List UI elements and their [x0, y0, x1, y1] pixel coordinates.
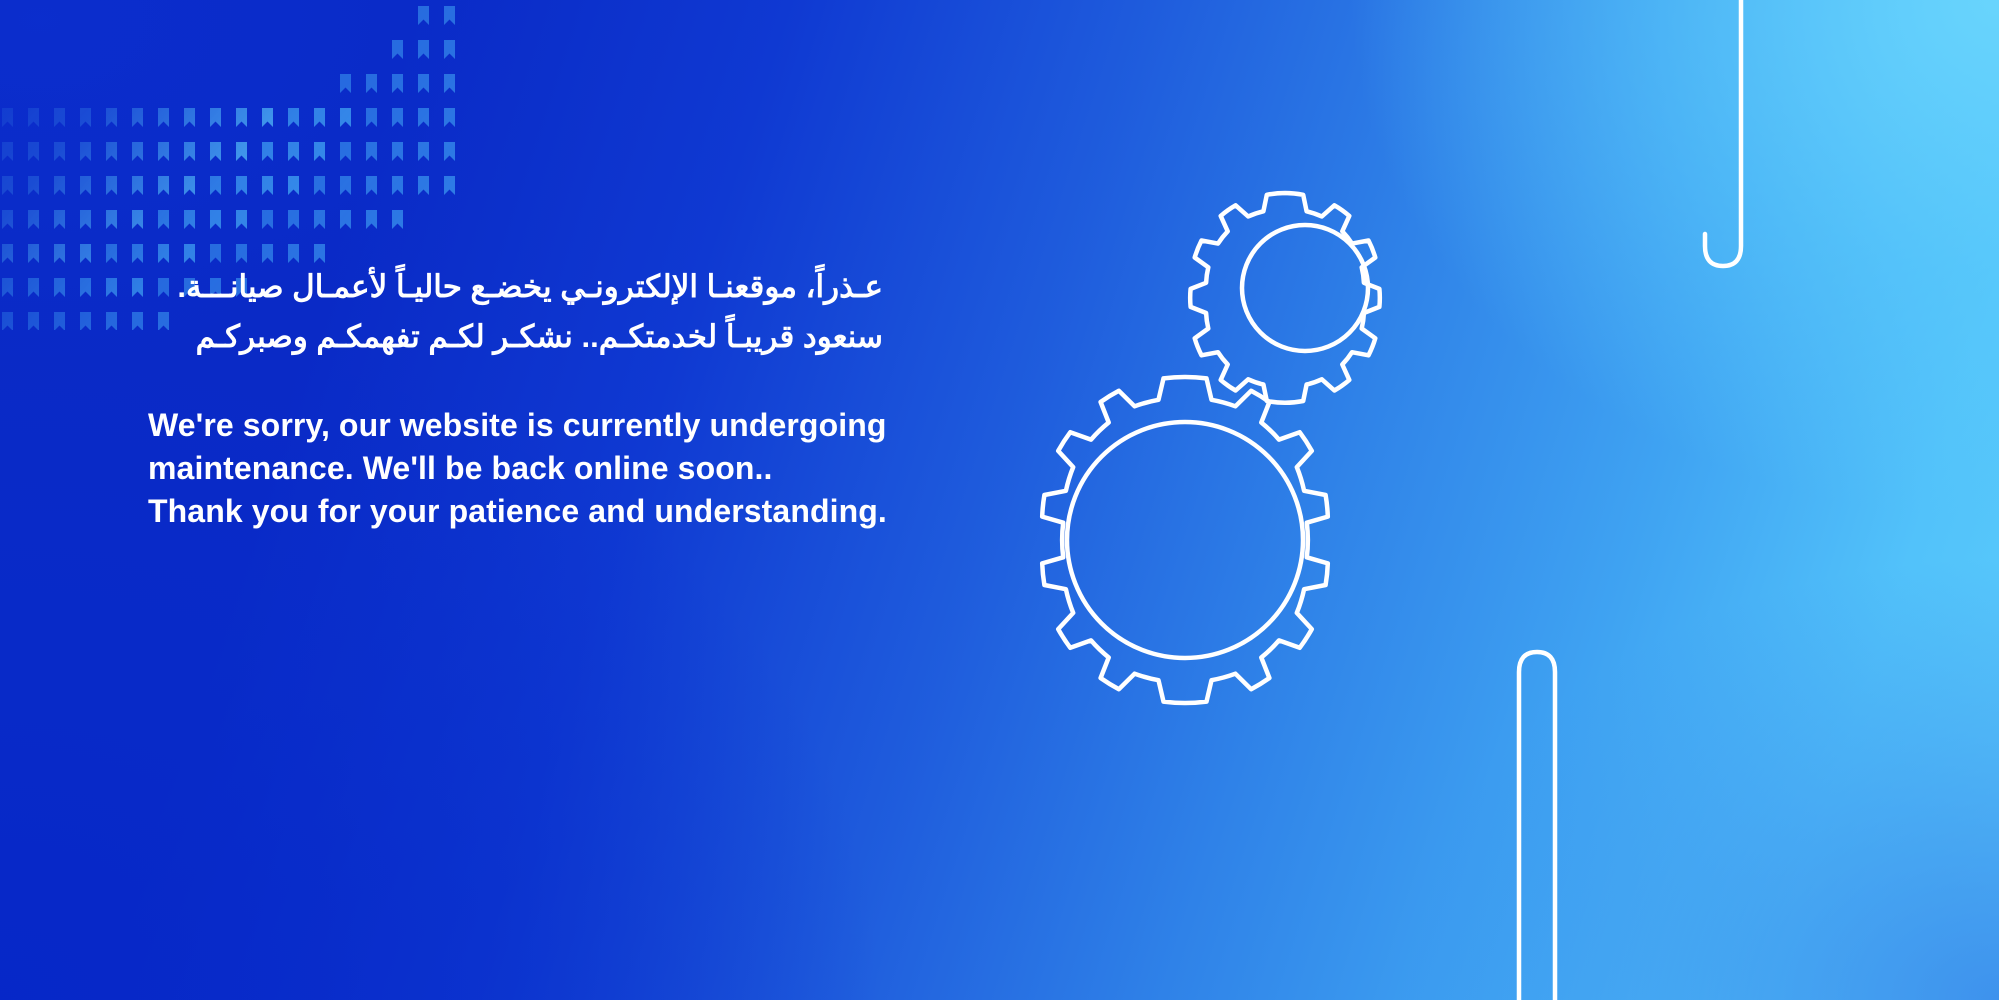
english-line-3: Thank you for your patience and understa… [148, 490, 928, 533]
english-notice: We're sorry, our website is currently un… [148, 404, 928, 533]
arabic-line-2: سنعود قريبـاً لخدمتكـم.. نشكـر لكـم تفهم… [148, 312, 883, 362]
vertical-connector-line-top [1705, 0, 1741, 266]
arabic-notice: عـذراً، موقعنـا الإلكترونـي يخضـع حاليـا… [148, 262, 883, 362]
arabic-line-1: عـذراً، موقعنـا الإلكترونـي يخضـع حاليـا… [148, 262, 883, 312]
vertical-connector-line-bottom [1519, 652, 1555, 1000]
maintenance-page: عـذراً، موقعنـا الإلكترونـي يخضـع حاليـا… [0, 0, 1999, 1000]
gear-large-hub-circle [1067, 422, 1303, 658]
gear-outline-large [1042, 377, 1328, 703]
english-line-1: We're sorry, our website is currently un… [148, 404, 928, 447]
english-line-2: maintenance. We'll be back online soon.. [148, 447, 928, 490]
gear-small-hub-circle [1242, 225, 1368, 351]
gear-outline-small [1190, 193, 1380, 403]
notice-text-block: عـذراً، موقعنـا الإلكترونـي يخضـع حاليـا… [148, 262, 928, 533]
